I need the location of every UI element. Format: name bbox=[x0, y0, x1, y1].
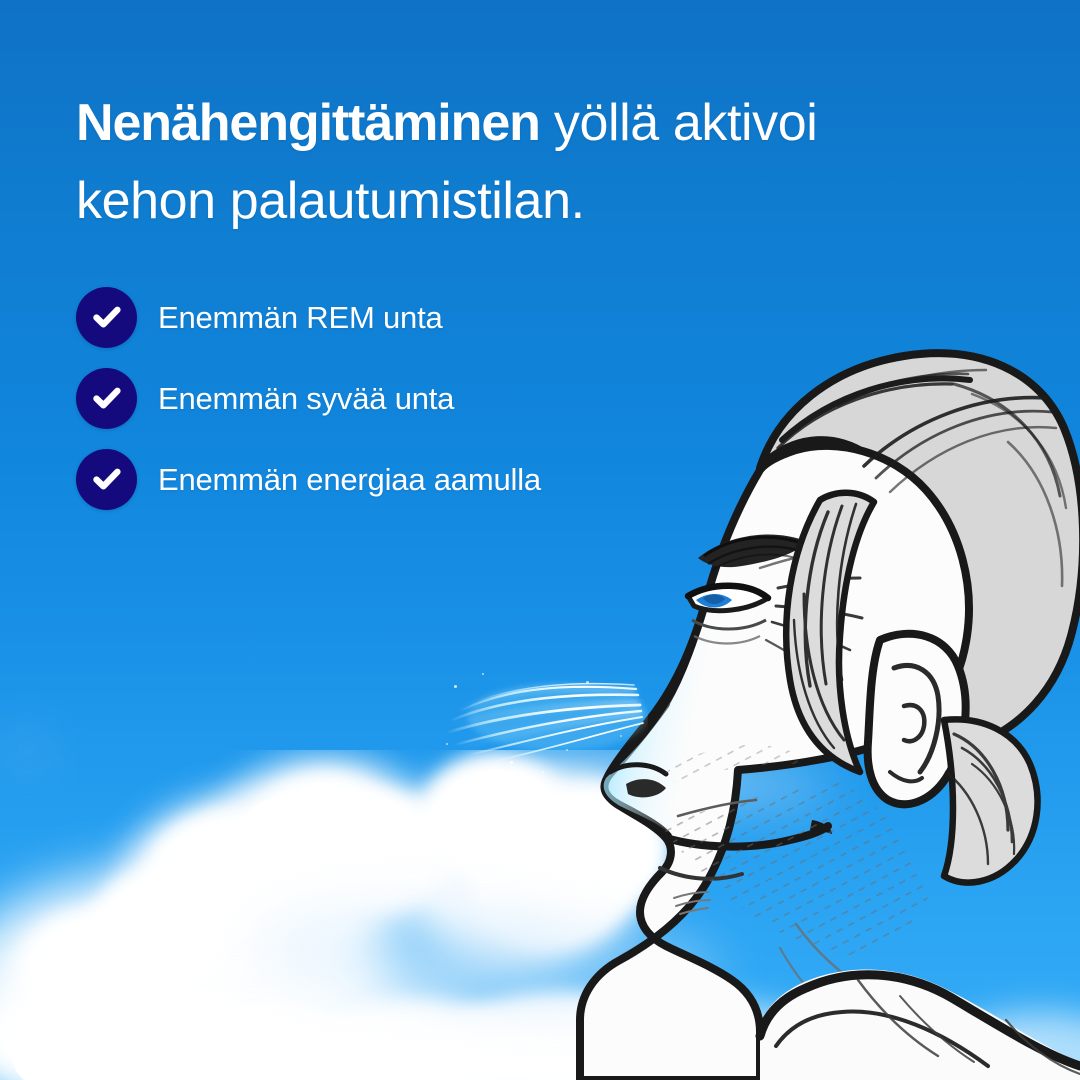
check-icon bbox=[76, 449, 137, 510]
list-item-label: Enemmän syvää unta bbox=[158, 383, 454, 414]
headline: Nenähengittäminen yöllä aktivoi kehon pa… bbox=[76, 84, 956, 240]
man-profile-illustration bbox=[460, 320, 1080, 1080]
check-icon bbox=[76, 287, 137, 348]
check-icon bbox=[76, 368, 137, 429]
list-item-label: Enemmän REM unta bbox=[158, 302, 443, 333]
headline-bold: Nenähengittäminen bbox=[76, 94, 540, 152]
poster-canvas: Nenähengittäminen yöllä aktivoi kehon pa… bbox=[0, 0, 1080, 1080]
